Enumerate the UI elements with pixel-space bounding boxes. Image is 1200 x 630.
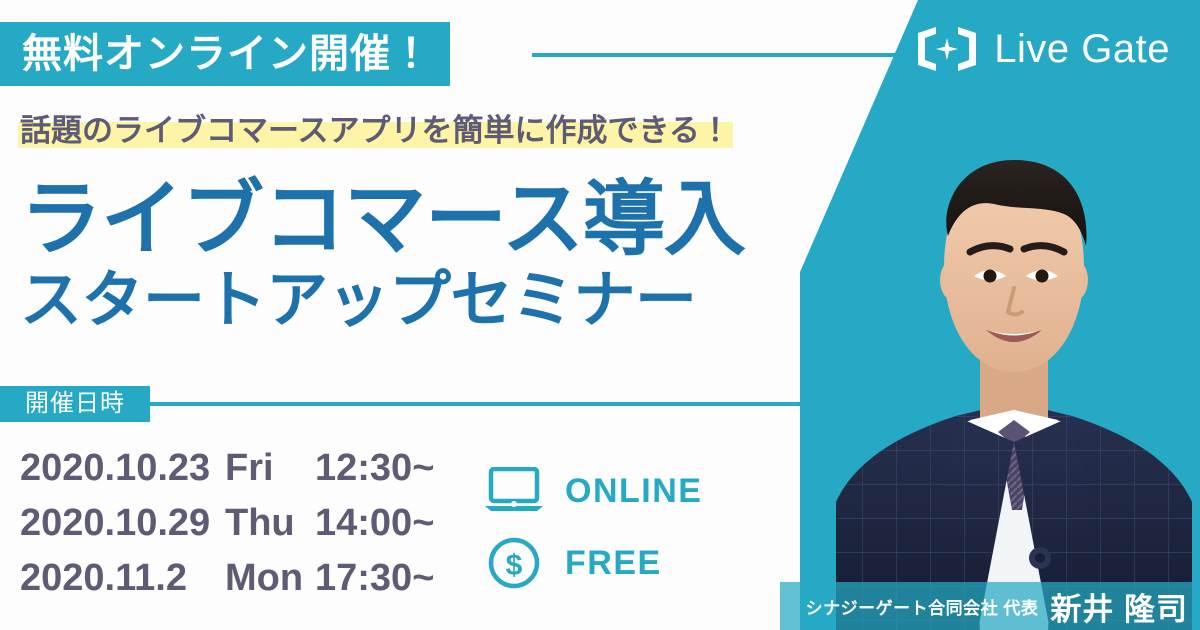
presenter-photo-container (800, 0, 1200, 630)
schedule-label: 開催日時 (0, 386, 150, 422)
schedule-weekday: Thu (225, 502, 315, 545)
presenter-organization: シナジーゲート合同会社 代表 (806, 594, 1039, 619)
schedule-date: 2020.10.29 (20, 502, 225, 545)
live-gate-mark-icon (914, 24, 980, 74)
schedule-time: 12:30~ (315, 447, 455, 490)
subtitle-text: 話題のライブコマースアプリを簡単に作成できる！ (18, 113, 733, 148)
schedule-weekday: Fri (225, 447, 315, 490)
schedule-row: 2020.10.29 Thu 14:00~ (20, 502, 455, 557)
presenter-caption: シナジーゲート合同会社 代表 新井 隆司 (780, 582, 1200, 630)
schedule-date: 2020.10.23 (20, 447, 225, 490)
badge-rule-line (532, 53, 922, 57)
headline: ライブコマース導入 スタートアップセミナー (20, 178, 745, 339)
info-label-free: FREE (565, 546, 662, 580)
info-item-online: ONLINE (483, 455, 702, 527)
free-online-badge: 無料オンライン開催！ (0, 22, 450, 86)
info-badges: ONLINE $ FREE (483, 455, 702, 599)
live-gate-logo: Live Gate (914, 24, 1170, 74)
info-item-free: $ FREE (483, 527, 702, 599)
schedule-row: 2020.11.2 Mon 17:30~ (20, 557, 455, 612)
presenter-name: 新井 隆司 (1050, 584, 1188, 629)
headline-line-1: ライブコマース導入 (20, 178, 745, 262)
laptop-icon (483, 467, 545, 515)
schedule-date: 2020.11.2 (20, 557, 225, 600)
schedule-rule-line (150, 402, 850, 406)
schedule-row: 2020.10.23 Fri 12:30~ (20, 447, 455, 502)
webinar-banner: シナジーゲート合同会社 代表 新井 隆司 Live Gate 無料オンライン開催… (0, 0, 1200, 630)
schedule-time: 14:00~ (315, 502, 455, 545)
logo-text: Live Gate (994, 29, 1170, 69)
schedule-time: 17:30~ (315, 557, 455, 600)
svg-text:$: $ (506, 549, 523, 582)
info-label-online: ONLINE (565, 474, 702, 508)
presenter-photo (828, 110, 1200, 630)
schedule-list: 2020.10.23 Fri 12:30~ 2020.10.29 Thu 14:… (20, 447, 455, 612)
dollar-circle-icon: $ (483, 535, 545, 591)
subtitle: 話題のライブコマースアプリを簡単に作成できる！ (18, 112, 733, 151)
headline-line-2: スタートアップセミナー (20, 262, 745, 340)
schedule-weekday: Mon (225, 557, 315, 600)
